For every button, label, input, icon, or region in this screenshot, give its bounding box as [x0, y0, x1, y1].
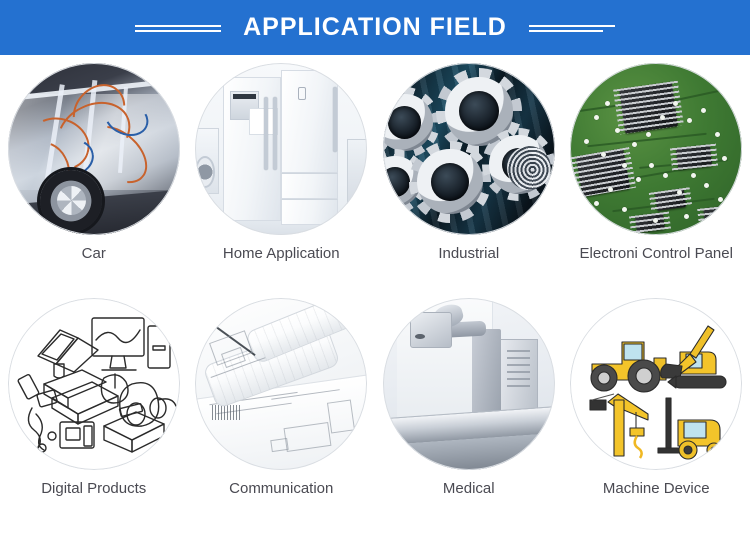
caption-digital-products: Digital Products — [41, 480, 146, 498]
header-banner: APPLICATION FIELD — [0, 0, 750, 55]
industrial-gears-image — [383, 63, 555, 235]
grid-item-communication[interactable]: Communication — [188, 290, 376, 525]
medical-xray-machine-image — [383, 298, 555, 470]
caption-home-application: Home Application — [223, 245, 340, 263]
construction-vehicles-image — [570, 298, 742, 470]
car-wiring-harness-image — [8, 63, 180, 235]
caption-medical: Medical — [443, 480, 495, 498]
page-title: APPLICATION FIELD — [243, 15, 507, 40]
grid-item-car[interactable]: Car — [0, 55, 188, 290]
caption-machine-device: Machine Device — [603, 480, 710, 498]
grid-item-electronic-control-panel[interactable]: Electroni Control Panel — [563, 55, 750, 290]
grid-item-industrial[interactable]: Industrial — [375, 55, 563, 290]
pcb-circuit-board-image — [570, 63, 742, 235]
caption-communication: Communication — [229, 480, 333, 498]
grid-item-home-application[interactable]: Home Application — [188, 55, 376, 290]
application-grid: Car — [0, 55, 750, 525]
grid-item-medical[interactable]: Medical — [375, 290, 563, 525]
blueprint-rolls-image — [195, 298, 367, 470]
digital-products-lineart-image — [8, 298, 180, 470]
caption-electronic-control-panel: Electroni Control Panel — [580, 245, 733, 263]
double-line-right-icon — [529, 22, 615, 34]
grid-item-digital-products[interactable]: Digital Products — [0, 290, 188, 525]
double-line-left-icon — [135, 22, 221, 34]
home-appliances-image — [195, 63, 367, 235]
application-field-page: APPLICATION FIELD — [0, 0, 750, 544]
caption-car: Car — [82, 245, 106, 263]
grid-item-machine-device[interactable]: Machine Device — [563, 290, 750, 525]
caption-industrial: Industrial — [438, 245, 499, 263]
